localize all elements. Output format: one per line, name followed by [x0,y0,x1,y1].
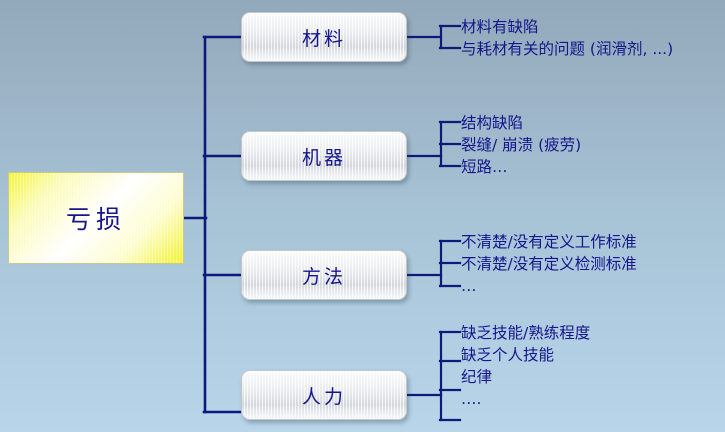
category-label: 方法 [302,262,346,289]
cause-item: 不清楚/没有定义检测标准 [461,253,637,275]
category-label: 人力 [302,382,346,409]
cause-item: … [461,275,637,297]
cause-list-material: 材料有缺陷 与耗材有关的问题 (润滑剂, ...) [461,16,673,60]
category-box-machine[interactable]: 机器 [241,131,407,181]
cause-list-method: 不清楚/没有定义工作标准 不清楚/没有定义检测标准 … [461,231,637,297]
cause-item: …. [461,388,590,410]
fishbone-diagram: 亏损 材料 机器 方法 人力 材料有缺陷 与耗材有关的问题 (润滑剂, ...)… [0,0,725,432]
cause-item: 裂缝/ 崩溃 (疲劳) [461,134,581,156]
category-box-method[interactable]: 方法 [241,250,407,300]
cause-list-manpower: 缺乏技能/熟练程度 缺乏个人技能 纪律 …. [461,322,590,410]
cause-item: 与耗材有关的问题 (润滑剂, ...) [461,38,673,60]
effect-box[interactable]: 亏损 [8,172,184,264]
cause-list-machine: 结构缺陷 裂缝/ 崩溃 (疲劳) 短路… [461,112,581,178]
category-box-material[interactable]: 材料 [241,12,407,62]
cause-item: 缺乏技能/熟练程度 [461,322,590,344]
cause-item: 结构缺陷 [461,112,581,134]
cause-item: 纪律 [461,366,590,388]
cause-item: 短路… [461,156,581,178]
effect-label: 亏损 [66,200,126,236]
cause-item: 缺乏个人技能 [461,344,590,366]
category-label: 机器 [302,143,346,170]
category-box-manpower[interactable]: 人力 [241,370,407,420]
cause-item: 不清楚/没有定义工作标准 [461,231,637,253]
category-label: 材料 [302,24,346,51]
cause-item: 材料有缺陷 [461,16,673,38]
